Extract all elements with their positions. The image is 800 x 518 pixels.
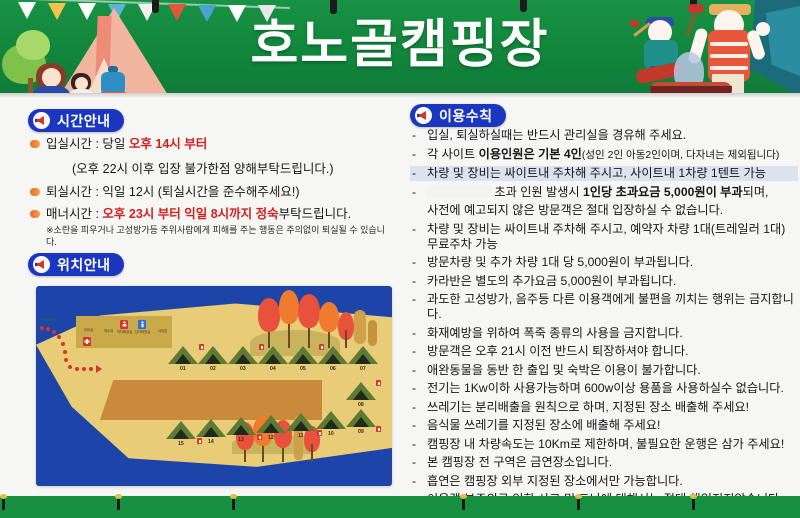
map-site-number: 01 (180, 366, 186, 372)
section-header-location: 위치안내 (28, 253, 124, 276)
bullet-icon (30, 188, 40, 196)
map-site-number: 12 (268, 435, 274, 441)
campground-map: 관리실 개수대 여자화장실 남자화장실 샤워장 차량통행로 (36, 286, 392, 486)
rule-text: 차량 및 장비는 싸이트내 주차해 주시고, 예약자 차량 1대(트레일러 1대… (427, 222, 785, 251)
map-site-number: 02 (210, 366, 216, 372)
map-site-number: 04 (270, 366, 276, 372)
rule-text: 카라반은 별도의 추가요금 5,000원이 부과됩니다. (427, 274, 676, 288)
time-note: ※소란을 피우거나 고성방가등 주위사람에게 피해를 주는 행동은 주의없이 퇴… (30, 224, 390, 248)
time-item-quiet-hours: 매너시간 : 오후 23시 부터 익일 8시까지 정숙부탁드립니다. (30, 206, 390, 222)
megaphone-icon (33, 112, 50, 129)
rule-item: -캠핑장 내 차량속도는 10Km로 제한하며, 불필요한 운행은 삼가 주세요… (410, 437, 798, 452)
rule-item: -흡연은 캠핑장 외부 지정된 장소에서만 가능합니다. (410, 474, 798, 489)
rule-text: 초과 인원 발생시 (491, 185, 583, 199)
rule-text: 애완동물을 동반 한 출입 및 숙박은 이용이 불가합니다. (427, 363, 701, 377)
rule-item: -과도한 고성방가, 음주등 다른 이용객에게 불편을 끼치는 행위는 금지합니… (410, 292, 798, 322)
time-info-list: 입실시간 : 당일 오후 14시 부터 (오후 22시 이후 입장 불가한점 양… (30, 136, 390, 248)
rule-text: 캠핑장 내 차량속도는 10Km로 제한하며, 불필요한 운행은 삼가 주세요! (427, 437, 784, 451)
campground-info-sign: 호노골캠핑장 (0, 0, 800, 518)
rule-item: -방문차량 및 추가 차량 1대 당 5,000원이 부과됩니다. (410, 255, 798, 270)
map-site-number: 08 (358, 402, 364, 408)
rule-item: -각 사이트 이용인원은 기본 4인(성인 2인 아동2인이며, 다자녀는 제외… (410, 147, 798, 163)
rule-item: -전기는 1Kw이하 사용가능하며 600w이상 용품을 사용하실수 없습니다. (410, 381, 798, 396)
rule-item: - 초과 인원 발생시 1인당 초과요금 5,000원이 부과되며, (410, 185, 798, 200)
rule-text: 화재예방을 위하여 폭죽 종류의 사용을 금지합니다. (427, 326, 683, 340)
map-label-sink: 개수대 (100, 329, 117, 333)
map-label-shower: 샤워장 (154, 329, 171, 333)
quiet-label: 매너시간 : (46, 207, 102, 221)
board-top-shadow (0, 93, 800, 98)
rule-item: -차량 및 장비는 싸이트내 주차해 주시고, 예약자 차량 1대(트레일러 1… (410, 222, 798, 252)
map-label-women-restroom: 여자화장실 (116, 330, 133, 334)
map-site-number: 15 (178, 441, 184, 447)
time-item-checkin: 입실시간 : 당일 오후 14시 부터 (30, 136, 390, 152)
map-site-number: 11 (298, 433, 303, 439)
section-header-location-label: 위치안내 (57, 255, 111, 275)
rule-item-highlighted: -차량 및 장비는 싸이트내 주차해 주시고, 사이트내 1차량 1텐트 가능 (410, 166, 798, 181)
office-marker-icon (83, 337, 91, 346)
quiet-time: 오후 23시 부터 익일 8시까지 정숙 (102, 207, 278, 221)
section-header-rules-label: 이용수칙 (439, 106, 493, 126)
map-entrance-label: 차량통행로 (40, 318, 57, 323)
map-site-number: 06 (330, 366, 336, 372)
section-header-time: 시간안내 (28, 109, 124, 132)
redacted-text-block (427, 185, 491, 197)
map-label-office: 관리실 (80, 328, 97, 332)
section-header-rules: 이용수칙 (410, 104, 506, 127)
rule-text: 방문차량 및 추가 차량 1대 당 5,000원이 부과됩니다. (427, 255, 693, 269)
rule-text: 각 사이트 (427, 147, 479, 161)
rule-text-small: (성인 2인 아동2인이며, 다자녀는 제외됩니다) (582, 149, 779, 161)
rule-text: 과도한 고성방가, 음주등 다른 이용객에게 불편을 끼치는 행위는 금지합니다… (427, 292, 794, 321)
checkin-label: 입실시간 : 당일 (46, 137, 129, 151)
megaphone-icon (33, 256, 50, 273)
rule-item: -애완동물을 동반 한 출입 및 숙박은 이용이 불가합니다. (410, 363, 798, 378)
women-restroom-icon (120, 320, 128, 329)
rule-continuation: 사전에 예고되지 않은 방문객은 절대 입장하실 수 없습니다. (410, 203, 798, 218)
map-facility-building: 관리실 개수대 여자화장실 남자화장실 샤워장 (76, 316, 172, 348)
rule-item: -입실, 퇴실하실때는 반드시 관리실을 경유해 주세요. (410, 128, 798, 143)
rules-list: -입실, 퇴실하실때는 반드시 관리실을 경유해 주세요. -각 사이트 이용인… (410, 128, 798, 518)
map-label-men-restroom: 남자화장실 (134, 330, 151, 334)
map-site-number: 14 (208, 439, 214, 445)
rule-text: 쓰레기는 분리배출을 원칙으로 하며, 지정된 장소 배출해 주세요! (427, 400, 749, 414)
bullet-icon (30, 140, 40, 148)
rule-text: 음식물 쓰레기를 지정된 장소에 배출해 주세요! (427, 418, 660, 432)
map-site-number: 05 (300, 366, 306, 372)
map-site-number: 10 (328, 431, 334, 437)
checkout-label: 퇴실시간 : 익일 12시 (퇴실시간을 준수해주세요!) (46, 185, 300, 199)
rule-text: 방문객은 오후 21시 이전 반드시 퇴장하셔야 합니다. (427, 344, 689, 358)
map-site-number: 13 (238, 437, 244, 443)
rule-text-bold: 이용인원은 기본 4인 (479, 147, 582, 161)
rule-text: 본 캠핑장 전 구역은 금연장소입니다. (427, 455, 612, 469)
rule-item: -본 캠핑장 전 구역은 금연장소입니다. (410, 455, 798, 470)
checkin-sub-note: (오후 22시 이후 입장 불가한점 양해부탁드립니다.) (72, 158, 390, 177)
rule-text: 흡연은 캠핑장 외부 지정된 장소에서만 가능합니다. (427, 474, 683, 488)
quiet-tail: 부탁드립니다. (279, 207, 351, 221)
bottom-frame-strip (0, 496, 800, 518)
rule-item: -쓰레기는 분리배출을 원칙으로 하며, 지정된 장소 배출해 주세요! (410, 400, 798, 415)
megaphone-icon (415, 107, 432, 124)
map-site-number: 07 (360, 366, 366, 372)
rule-item: -화재예방을 위하여 폭죽 종류의 사용을 금지합니다. (410, 326, 798, 341)
map-site-number: 09 (358, 429, 364, 435)
time-item-checkout: 퇴실시간 : 익일 12시 (퇴실시간을 준수해주세요!) (30, 184, 390, 200)
rule-text-bold: 1인당 초과요금 5,000원이 부과 (583, 185, 743, 199)
rule-text-tail: 되며, (743, 185, 769, 199)
rule-item: -방문객은 오후 21시 이전 반드시 퇴장하셔야 합니다. (410, 344, 798, 359)
rule-item: -음식물 쓰레기를 지정된 장소에 배출해 주세요! (410, 418, 798, 433)
map-site-number: 03 (240, 366, 246, 372)
bullet-icon (30, 210, 40, 218)
rule-item: -카라반은 별도의 추가요금 5,000원이 부과됩니다. (410, 274, 798, 289)
section-header-time-label: 시간안내 (57, 111, 111, 131)
rule-text: 차량 및 장비는 싸이트내 주차해 주시고, 사이트내 1차량 1텐트 가능 (427, 166, 766, 180)
checkin-time: 오후 14시 부터 (129, 137, 207, 151)
rule-text: 입실, 퇴실하실때는 반드시 관리실을 경유해 주세요. (427, 128, 686, 142)
men-restroom-icon (138, 320, 146, 329)
rule-text: 전기는 1Kw이하 사용가능하며 600w이상 용품을 사용하실수 없습니다. (427, 381, 784, 395)
